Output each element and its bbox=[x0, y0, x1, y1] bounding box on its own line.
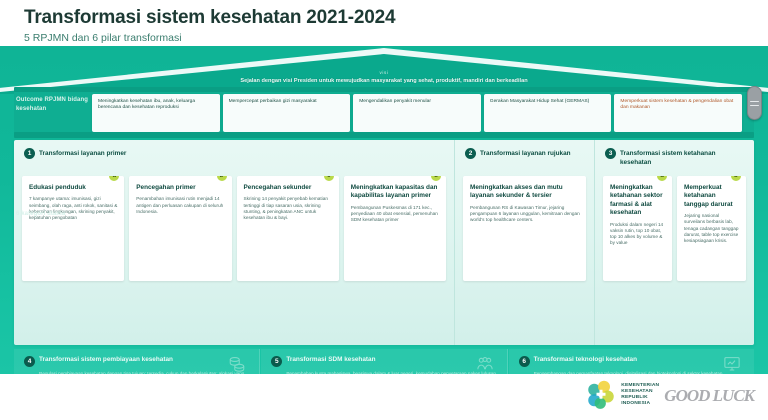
slide-canvas: Transformasi sistem kesehatan 2021-2024 … bbox=[0, 0, 768, 420]
card-body: Penambahan imunisasi rutin menjadi 14 an… bbox=[136, 196, 225, 215]
card-body: Pembangunan Puskesmas di 171 kec., penye… bbox=[351, 205, 440, 224]
card-title: Meningkatkan ketahanan sektor farmasi & … bbox=[610, 184, 666, 218]
card-body: Skrining 14 penyakit penyebab kematian t… bbox=[244, 196, 333, 221]
pillar-header: 3 Transformasi sistem ketahanan kesehata… bbox=[595, 140, 754, 167]
ministry-line-4: INDONESIA bbox=[621, 401, 659, 407]
pillar-title: Transformasi SDM kesehatan bbox=[286, 356, 375, 365]
sub-card[interactable]: Meningkatkan akses dan mutu layanan seku… bbox=[463, 176, 586, 281]
outcome-card[interactable]: Mengendalikan penyakit menular bbox=[353, 94, 481, 132]
vision-text: Sejalan dengan visi Presiden untuk mewuj… bbox=[240, 77, 527, 85]
pillar-title: Transformasi teknologi kesehatan bbox=[534, 356, 637, 365]
handle-grip-line bbox=[750, 101, 759, 102]
sub-card[interactable]: a Edukasi penduduk 7 kampanye utama: imu… bbox=[22, 176, 124, 281]
outcome-base-bar bbox=[14, 132, 754, 138]
pillar-panel: 1 Transformasi layanan primer a Edukasi … bbox=[14, 140, 754, 345]
pillar-number-badge: 4 bbox=[24, 356, 35, 367]
ministry-name: KEMENTERIAN KESEHATAN REPUBLIK INDONESIA bbox=[621, 383, 659, 408]
diagram-board: visi Sejalan dengan visi Presiden untuk … bbox=[0, 46, 768, 420]
sub-card[interactable]: c Pencegahan sekunder Skrining 14 penyak… bbox=[237, 176, 339, 281]
vision-label: visi bbox=[380, 70, 389, 76]
pillar-header: 2 Transformasi layanan rujukan bbox=[455, 140, 594, 159]
card-badge: a bbox=[657, 176, 667, 181]
card-title: Meningkatkan akses dan mutu layanan seku… bbox=[470, 184, 580, 201]
pillar-group-3: 3 Transformasi sistem ketahanan kesehata… bbox=[594, 140, 754, 345]
outcome-card[interactable]: Meningkatkan kesehatan ibu, anak, keluar… bbox=[92, 94, 220, 132]
vertical-scroll-handle[interactable] bbox=[747, 86, 762, 120]
pillar-title: Transformasi layanan primer bbox=[39, 148, 126, 158]
pillar-number-badge: 5 bbox=[271, 356, 282, 367]
ministry-line-1: KEMENTERIAN bbox=[621, 383, 659, 389]
outcome-card[interactable]: Mempercepat perbaikan gizi masyarakat bbox=[223, 94, 351, 132]
handle-grip-line bbox=[750, 105, 759, 106]
card-badge: d bbox=[431, 176, 441, 181]
coins-icon bbox=[227, 355, 247, 373]
pillar-header: 1 Transformasi layanan primer bbox=[14, 140, 454, 159]
page-title: Transformasi sistem kesehatan 2021-2024 bbox=[24, 6, 768, 29]
pillar-number-badge: 3 bbox=[605, 148, 616, 159]
sub-card[interactable]: d Meningkatkan kapasitas dan kapabilitas… bbox=[344, 176, 446, 281]
card-body: Jejaring nasional surveilans berbasis la… bbox=[684, 213, 740, 244]
ministry-logo-block: KEMENTERIAN KESEHATAN REPUBLIK INDONESIA… bbox=[586, 380, 754, 410]
pillar-title: Transformasi sistem ketahanan kesehatan bbox=[620, 148, 746, 167]
card-title: Pencegahan primer bbox=[136, 184, 225, 192]
pillar-header: 6 Transformasi teknologi kesehatan bbox=[519, 356, 744, 367]
card-title: Memperkuat ketahanan tanggap darurat bbox=[684, 184, 740, 209]
card-body: Produksi dalam negeri 14 vaksin rutin, t… bbox=[610, 222, 666, 247]
sub-card[interactable]: b Memperkuat ketahanan tanggap darurat J… bbox=[677, 176, 746, 281]
card-title: Pencegahan sekunder bbox=[244, 184, 333, 192]
sub-card[interactable]: b Pencegahan primer Penambahan imunisasi… bbox=[129, 176, 231, 281]
card-badge: b bbox=[731, 176, 741, 181]
outcome-card[interactable]: Memperkuat sistem kesehatan & pengendali… bbox=[614, 94, 742, 132]
footer: KEMENTERIAN KESEHATAN REPUBLIK INDONESIA… bbox=[0, 374, 768, 420]
cards-row: Meningkatkan akses dan mutu layanan seku… bbox=[455, 176, 594, 281]
pillar-number-badge: 6 bbox=[519, 356, 530, 367]
pillar-header: 4 Transformasi sistem pembiayaan kesehat… bbox=[24, 356, 249, 367]
page-subtitle: 5 RPJMN dan 6 pilar transformasi bbox=[24, 32, 768, 45]
card-badge: c bbox=[324, 176, 334, 181]
pillar-group-2: 2 Transformasi layanan rujukan Meningkat… bbox=[454, 140, 594, 345]
card-badge: b bbox=[217, 176, 227, 181]
pillar-title: Transformasi layanan rujukan bbox=[480, 148, 571, 158]
pillar-title: Transformasi sistem pembiayaan kesehatan bbox=[39, 356, 173, 365]
rail-label-pilar: 6 kategori utama bbox=[16, 210, 88, 219]
cards-row: a Meningkatkan ketahanan sektor farmasi … bbox=[595, 176, 754, 281]
sub-card[interactable]: a Meningkatkan ketahanan sektor farmasi … bbox=[603, 176, 672, 281]
outcome-row: Meningkatkan kesehatan ibu, anak, keluar… bbox=[92, 94, 742, 132]
card-title: Meningkatkan kapasitas dan kapabilitas l… bbox=[351, 184, 440, 201]
goodluck-wordmark: GOOD LUCK bbox=[664, 388, 754, 403]
pillar-number-badge: 2 bbox=[465, 148, 476, 159]
card-title: Edukasi penduduk bbox=[29, 184, 118, 192]
pillar-number-badge: 1 bbox=[24, 148, 35, 159]
outcome-card[interactable]: Gerakan Masyarakat Hidup Sehat (GERMAS) bbox=[484, 94, 612, 132]
card-badge: a bbox=[109, 176, 119, 181]
card-body: Pembangunan RS di Kawasan Timur, jejarin… bbox=[470, 205, 580, 224]
people-icon bbox=[475, 355, 495, 373]
rail-label-outcome: Outcome RPJMN bidang kesehatan bbox=[16, 96, 88, 113]
roof-base-bar bbox=[14, 87, 754, 92]
pillar-header: 5 Transformasi SDM kesehatan bbox=[271, 356, 496, 367]
monitor-icon bbox=[722, 355, 742, 373]
cards-row: a Edukasi penduduk 7 kampanye utama: imu… bbox=[14, 176, 454, 281]
pillar-group-1: 1 Transformasi layanan primer a Edukasi … bbox=[14, 140, 454, 345]
kemenkes-logo-icon bbox=[586, 380, 616, 410]
header: Transformasi sistem kesehatan 2021-2024 … bbox=[0, 0, 768, 48]
